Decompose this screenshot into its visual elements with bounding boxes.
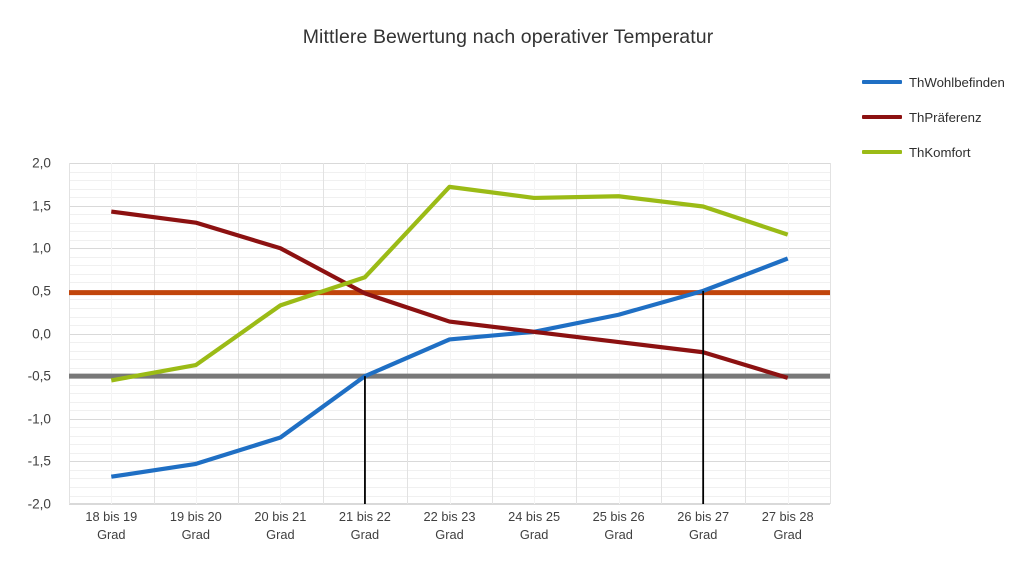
x-tick-label-range: 19 bis 20 — [170, 509, 222, 524]
y-tick-label: -1,0 — [28, 411, 51, 426]
series-lines — [69, 163, 830, 504]
x-tick-label: 18 bis 19Grad — [63, 508, 159, 544]
y-tick-label: -2,0 — [28, 497, 51, 512]
y-tick-label: -0,5 — [28, 369, 51, 384]
chart-legend: ThWohlbefindenThPräferenzThKomfort — [862, 70, 1024, 175]
legend-item[interactable]: ThKomfort — [862, 140, 1024, 164]
y-tick-label: 2,0 — [32, 156, 51, 171]
x-tick-label-unit: Grad — [148, 526, 244, 544]
y-tick-label: -1,5 — [28, 454, 51, 469]
x-tick-label: 24 bis 25Grad — [486, 508, 582, 544]
x-tick-label-range: 24 bis 25 — [508, 509, 560, 524]
x-tick-label: 20 bis 21Grad — [232, 508, 328, 544]
legend-swatch-icon — [862, 115, 902, 119]
legend-item-label: ThPräferenz — [909, 110, 982, 125]
x-tick-label-range: 22 bis 23 — [424, 509, 476, 524]
x-tick-label-range: 20 bis 21 — [254, 509, 306, 524]
x-tick-label-range: 25 bis 26 — [593, 509, 645, 524]
y-tick-label: 0,0 — [32, 326, 51, 341]
x-tick-label-unit: Grad — [655, 526, 751, 544]
x-tick-label-range: 27 bis 28 — [762, 509, 814, 524]
chart-title-text: Mittlere Bewertung nach operativer Tempe… — [303, 26, 714, 49]
legend-item[interactable]: ThPräferenz — [862, 105, 1024, 129]
x-tick-label: 26 bis 27Grad — [655, 508, 751, 544]
x-tick-label-unit: Grad — [232, 526, 328, 544]
legend-item[interactable]: ThWohlbefinden — [862, 70, 1024, 94]
chart-container: Mittlere Bewertung nach operativer Tempe… — [0, 0, 1024, 572]
x-tick-label-unit: Grad — [63, 526, 159, 544]
plot-area — [69, 163, 830, 504]
x-tick-label-range: 21 bis 22 — [339, 509, 391, 524]
x-tick-label-unit: Grad — [740, 526, 836, 544]
x-tick-label: 22 bis 23Grad — [402, 508, 498, 544]
y-tick-label: 0,5 — [32, 283, 51, 298]
chart-title: Mittlere Bewertung nach operativer Tempe… — [0, 26, 1024, 49]
legend-item-label: ThWohlbefinden — [909, 75, 1005, 90]
gridline-horizontal-major — [69, 504, 830, 505]
legend-item-label: ThKomfort — [909, 145, 971, 160]
legend-swatch-icon — [862, 80, 902, 84]
x-tick-label: 27 bis 28Grad — [740, 508, 836, 544]
x-tick-label-range: 18 bis 19 — [85, 509, 137, 524]
y-axis: 2,01,51,00,50,0-0,5-1,0-1,5-2,0 — [0, 163, 61, 504]
x-tick-label-range: 26 bis 27 — [677, 509, 729, 524]
x-tick-label-unit: Grad — [317, 526, 413, 544]
x-tick-label-unit: Grad — [486, 526, 582, 544]
x-tick-label: 25 bis 26Grad — [571, 508, 667, 544]
legend-swatch-icon — [862, 150, 902, 154]
y-tick-label: 1,5 — [32, 198, 51, 213]
x-axis: 18 bis 19Grad19 bis 20Grad20 bis 21Grad2… — [69, 508, 830, 560]
x-tick-label: 19 bis 20Grad — [148, 508, 244, 544]
x-tick-label: 21 bis 22Grad — [317, 508, 413, 544]
x-tick-label-unit: Grad — [571, 526, 667, 544]
x-tick-label-unit: Grad — [402, 526, 498, 544]
gridline-vertical-major — [830, 163, 831, 504]
y-tick-label: 1,0 — [32, 241, 51, 256]
